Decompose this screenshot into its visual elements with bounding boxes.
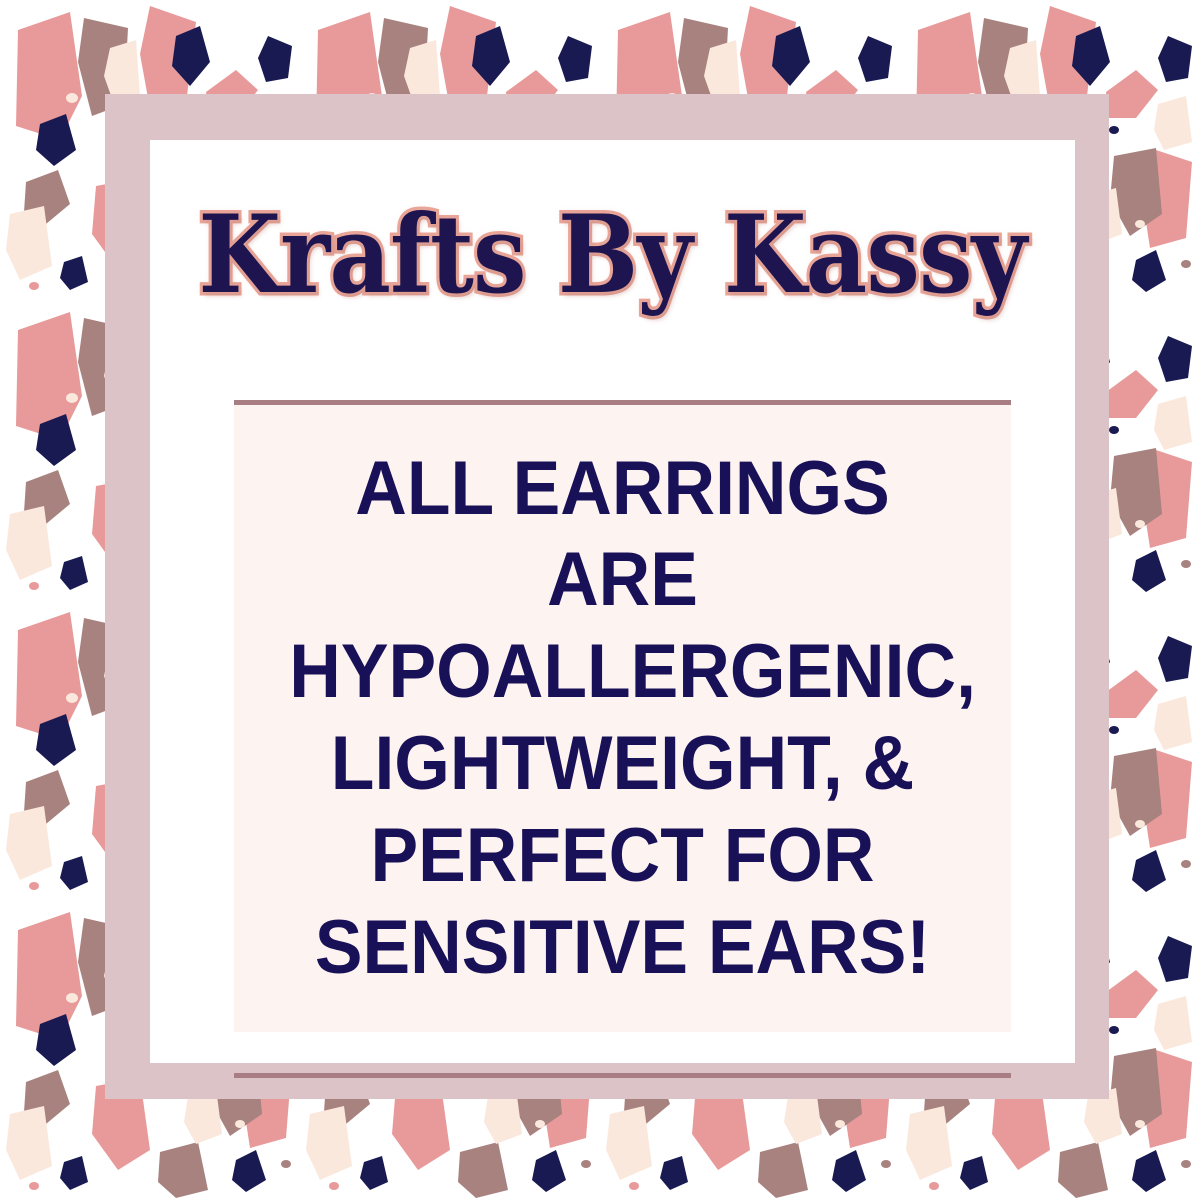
poster-frame: Krafts By Kassy ALL EARRINGS ARE HYPOALL… xyxy=(105,94,1109,1099)
brand-logo-text: Krafts By Kassy xyxy=(199,201,1027,309)
message-text: ALL EARRINGS ARE HYPOALLERGENIC, LIGHTWE… xyxy=(234,443,1011,995)
message-panel: ALL EARRINGS ARE HYPOALLERGENIC, LIGHTWE… xyxy=(234,405,1011,1032)
message-line: ALL EARRINGS ARE xyxy=(289,443,955,627)
brand-logo: Krafts By Kassy xyxy=(150,182,1075,327)
message-line: LIGHTWEIGHT, & xyxy=(289,719,955,811)
message-line: PERFECT FOR xyxy=(289,810,955,902)
divider-bottom xyxy=(234,1073,1011,1078)
message-line: SENSITIVE EARS! xyxy=(289,902,955,994)
message-line: HYPOALLERGENIC, xyxy=(289,627,955,719)
poster-canvas: Krafts By Kassy ALL EARRINGS ARE HYPOALL… xyxy=(0,0,1200,1200)
poster-inner-card: Krafts By Kassy ALL EARRINGS ARE HYPOALL… xyxy=(150,140,1075,1063)
